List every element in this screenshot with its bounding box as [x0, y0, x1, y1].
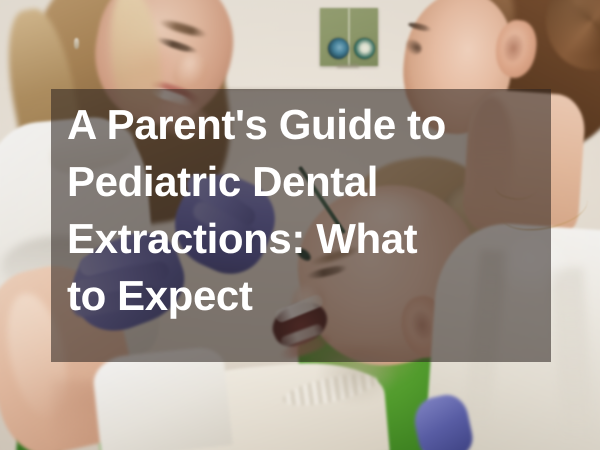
- wall-panel-shadow: [337, 64, 359, 68]
- wall-dial-blue-icon: [328, 38, 349, 59]
- child-shoulder-shadow: [318, 358, 396, 404]
- dentist-earring: [74, 38, 79, 49]
- wall-panel-divider: [348, 8, 350, 66]
- article-thumbnail-card: A Parent's Guide to Pediatric Dental Ext…: [0, 0, 600, 450]
- headline-overlay-band: A Parent's Guide to Pediatric Dental Ext…: [51, 89, 551, 362]
- page-title: A Parent's Guide to Pediatric Dental Ext…: [67, 96, 551, 324]
- wall-dial-green-icon: [354, 38, 375, 59]
